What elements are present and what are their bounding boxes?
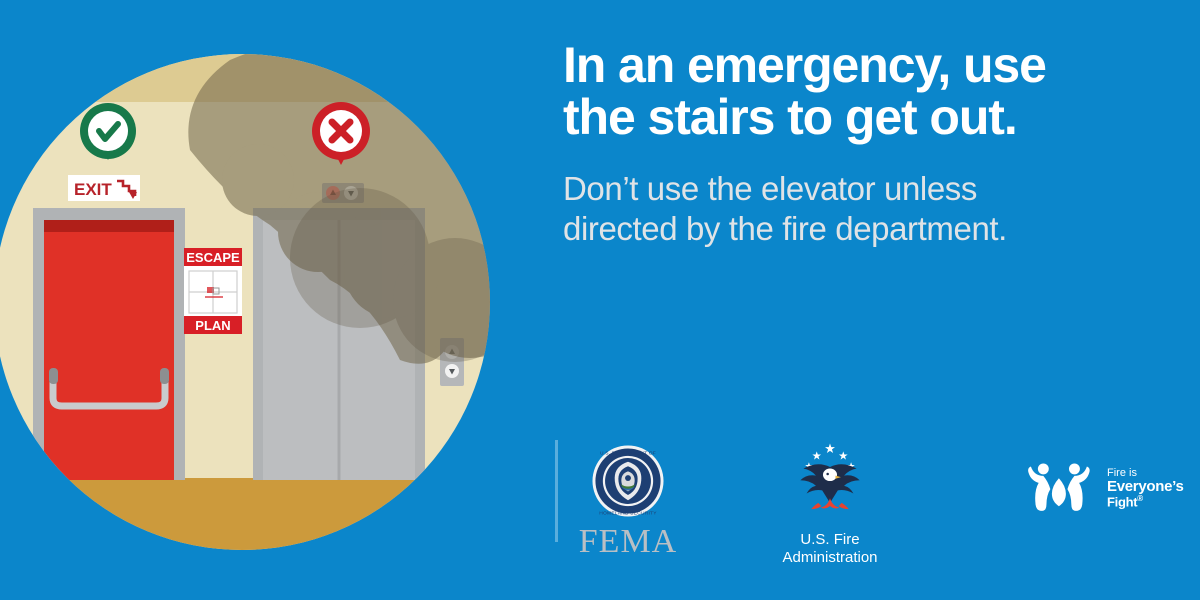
stair-door-top-shadow bbox=[44, 220, 174, 232]
push-bar-mount-right bbox=[160, 368, 169, 384]
usfa-wordmark: U.S. Fire Administration bbox=[745, 531, 915, 568]
exit-sign: EXIT bbox=[68, 175, 140, 201]
flames-icon bbox=[811, 498, 848, 509]
dhs-ring-text-top: U.S. DEPARTMENT OF bbox=[600, 450, 656, 456]
feef-line-2: Everyone’s bbox=[1107, 479, 1184, 494]
fema-logo: U.S. DEPARTMENT OF HOMELAND SECURITY FEM… bbox=[563, 444, 693, 559]
registered-mark-icon: ® bbox=[1137, 494, 1143, 503]
escape-plan-top-label: ESCAPE bbox=[186, 250, 240, 265]
illustration-stairwell-vs-elevator: EXIT ESCAPE PLAN bbox=[0, 0, 600, 600]
message-block: In an emergency, use the stairs to get o… bbox=[563, 40, 1163, 250]
eagle-head bbox=[823, 469, 837, 481]
escape-plan-poster: ESCAPE PLAN bbox=[184, 248, 242, 334]
dhs-seal: U.S. DEPARTMENT OF HOMELAND SECURITY bbox=[591, 444, 665, 518]
feef-line-3-text: Fight bbox=[1107, 494, 1137, 509]
scene-floor bbox=[0, 478, 600, 588]
feef-line-3: Fight® bbox=[1107, 495, 1184, 509]
fema-wordmark: FEMA bbox=[563, 525, 693, 559]
dhs-ring-text-bottom: HOMELAND SECURITY bbox=[599, 510, 657, 516]
usfa-logo: U.S. Fire Administration bbox=[745, 442, 915, 568]
two-figures-flame-icon bbox=[1023, 458, 1101, 514]
stair-door-panel bbox=[44, 220, 174, 480]
fema-safety-poster: EXIT ESCAPE PLAN bbox=[0, 0, 1200, 600]
usfa-eagle-emblem bbox=[787, 442, 873, 524]
push-bar-mount-left bbox=[49, 368, 58, 384]
exit-sign-label: EXIT bbox=[74, 180, 112, 199]
subheadline: Don’t use the elevator unless directed b… bbox=[563, 169, 1163, 250]
feef-wordmark: Fire is Everyone’s Fight® bbox=[1107, 468, 1184, 508]
page-title: In an emergency, use the stairs to get o… bbox=[563, 40, 1163, 143]
fire-is-everyones-fight-logo: Fire is Everyone’s Fight® bbox=[1023, 458, 1193, 519]
escape-plan-bottom-label: PLAN bbox=[195, 318, 230, 333]
logo-bar: U.S. DEPARTMENT OF HOMELAND SECURITY FEM… bbox=[555, 440, 1195, 560]
logo-divider bbox=[555, 440, 558, 542]
